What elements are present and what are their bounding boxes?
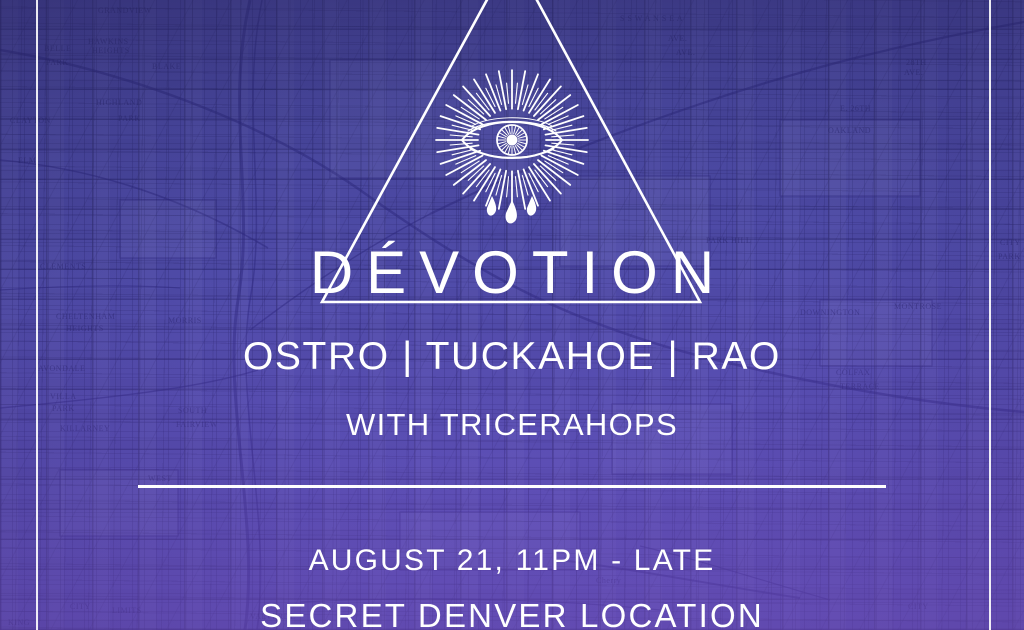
event-date-time: AUGUST 21, 11PM - LATE bbox=[0, 546, 1024, 576]
event-venue: SECRET DENVER LOCATION bbox=[0, 599, 1024, 630]
headline-artists: OSTRO | TUCKAHOE | RAO bbox=[0, 337, 1024, 376]
support-artist: WITH TRICERAHOPS bbox=[0, 409, 1024, 440]
page-title: DÉVOTION bbox=[0, 243, 1024, 303]
event-poster: GRANDVIEWS S W A N S E AHAWKINSHEIGHTSAV… bbox=[0, 0, 1024, 630]
horizontal-divider bbox=[138, 485, 886, 488]
